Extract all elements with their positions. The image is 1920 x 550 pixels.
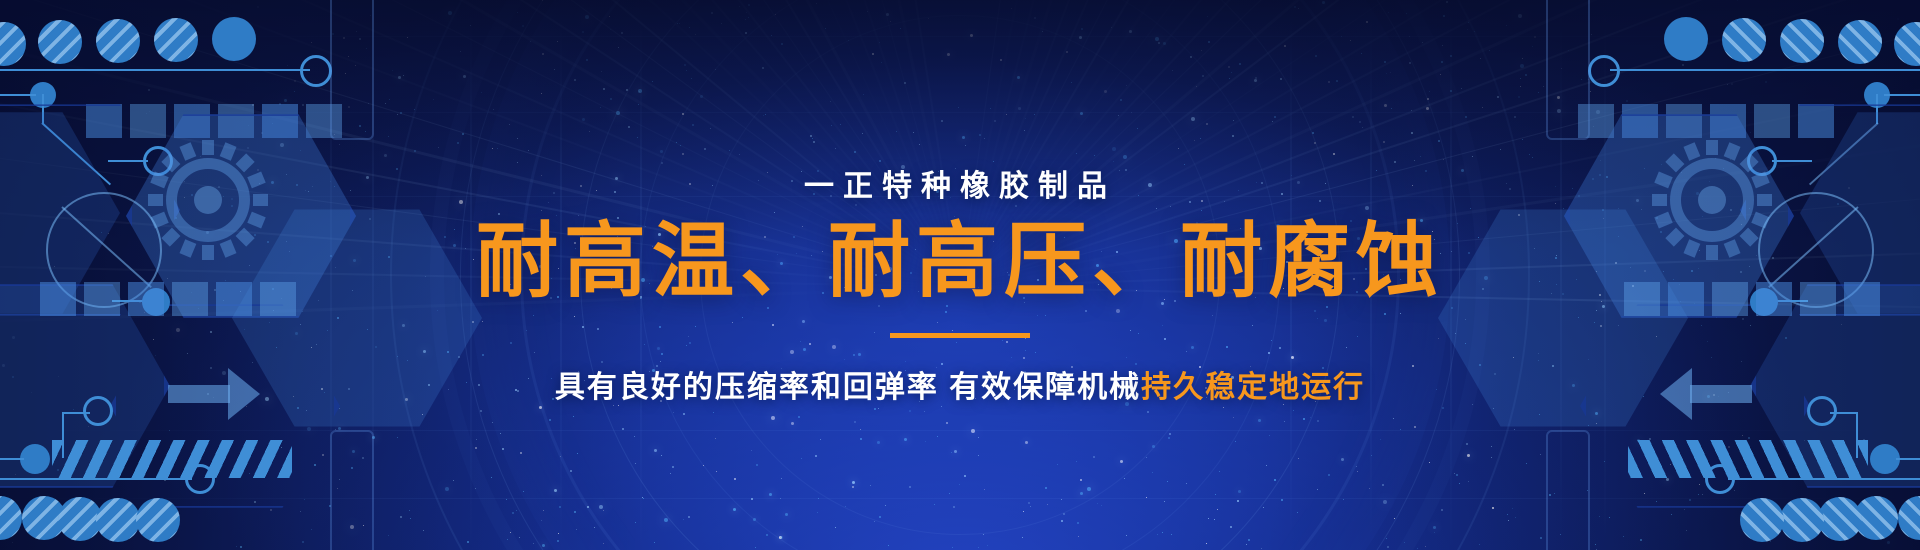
banner-subtitle-accent: 持久稳定地运行 <box>1141 371 1365 404</box>
banner-subtitle: 具有良好的压缩率和回弹率 有效保障机械持久稳定地运行 <box>555 362 1365 406</box>
banner-divider <box>890 333 1030 338</box>
banner-headline: 耐高温、耐高压、耐腐蚀 <box>476 221 1444 303</box>
banner-text-block: 一正特种橡胶制品 耐高温、耐高压、耐腐蚀 具有良好的压缩率和回弹率 有效保障机械… <box>0 0 1920 550</box>
banner-eyebrow: 一正特种橡胶制品 <box>804 161 1116 205</box>
hero-banner: 一正特种橡胶制品 耐高温、耐高压、耐腐蚀 具有良好的压缩率和回弹率 有效保障机械… <box>0 0 1920 550</box>
banner-subtitle-primary: 具有良好的压缩率和回弹率 有效保障机械 <box>555 371 1141 404</box>
